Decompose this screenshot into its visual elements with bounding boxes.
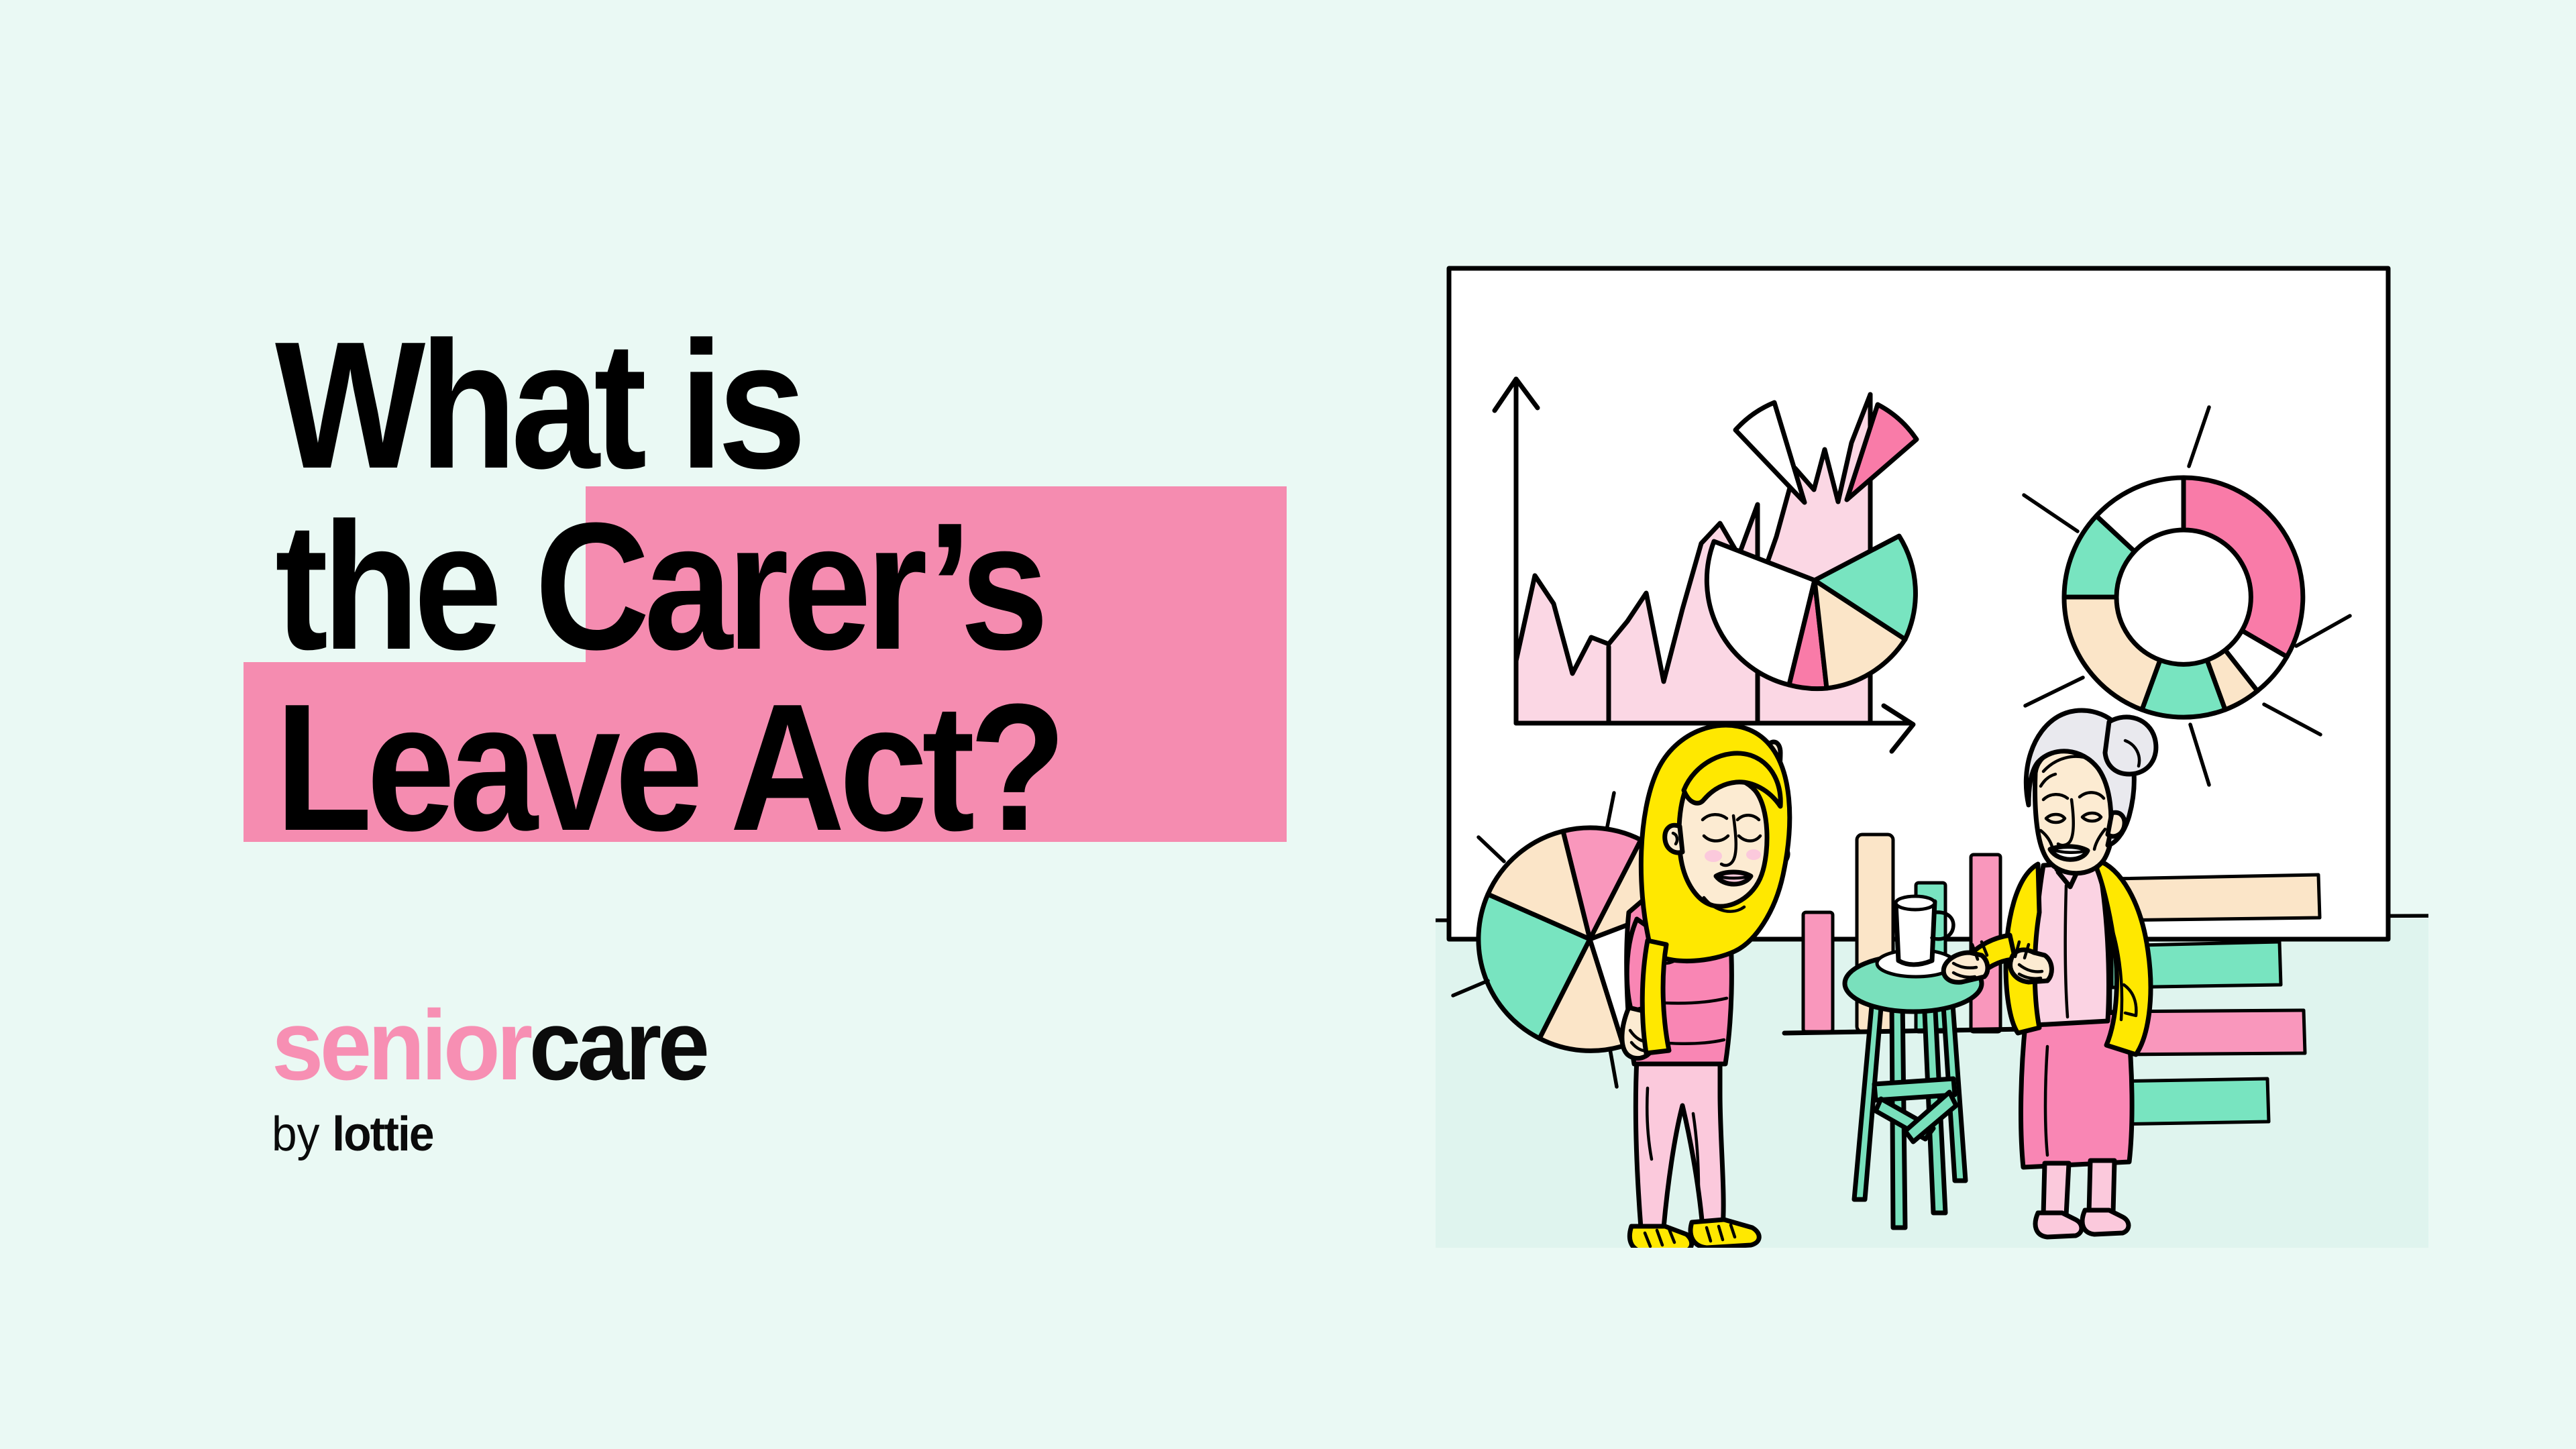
headline-line-2: the Carer’s (275, 496, 1043, 678)
illustration-svg: .ln{fill:none;stroke:#000;stroke-width:7… (1436, 241, 2428, 1248)
headline-line-2-plain: the (275, 486, 535, 688)
young-ear (1665, 825, 1682, 853)
headline-block: What is the Carer’s Leave Act? (0, 295, 1342, 899)
headline-line-1-text: What is (275, 305, 800, 506)
headline-line-3-highlight: Leave Act? (275, 667, 1061, 869)
older-leg-right (2089, 1161, 2114, 1213)
young-hair-strand (1642, 941, 1669, 1053)
hbar-4 (2112, 1079, 2269, 1124)
hbar-1 (2112, 875, 2320, 920)
headline-line-1: What is (275, 315, 800, 496)
brand-logo[interactable]: seniorcare by lottie (272, 996, 734, 1159)
poster-canvas: What is the Carer’s Leave Act? seniorcar… (0, 0, 2576, 1449)
logo-wordmark: seniorcare (272, 996, 706, 1095)
older-leg-left (2043, 1163, 2069, 1216)
logo-byline-prefix: by (272, 1108, 332, 1161)
logo-byline-brand: lottie (332, 1108, 433, 1161)
young-cheek-left (1705, 850, 1722, 862)
older-hair-bun (2105, 717, 2156, 774)
illustration: .ln{fill:none;stroke:#000;stroke-width:7… (1436, 241, 2428, 1248)
cup-rim (1896, 896, 1935, 910)
logo-word-care: care (529, 990, 706, 1101)
headline-line-3: Leave Act? (275, 678, 1061, 859)
logo-byline: by lottie (272, 1110, 706, 1159)
vbar-1 (1803, 912, 1833, 1032)
older-ear (2108, 812, 2125, 837)
logo-word-senior: senior (272, 990, 529, 1101)
young-cheek-right (1746, 849, 1761, 860)
headline-line-2-highlight: Carer’s (535, 486, 1042, 688)
